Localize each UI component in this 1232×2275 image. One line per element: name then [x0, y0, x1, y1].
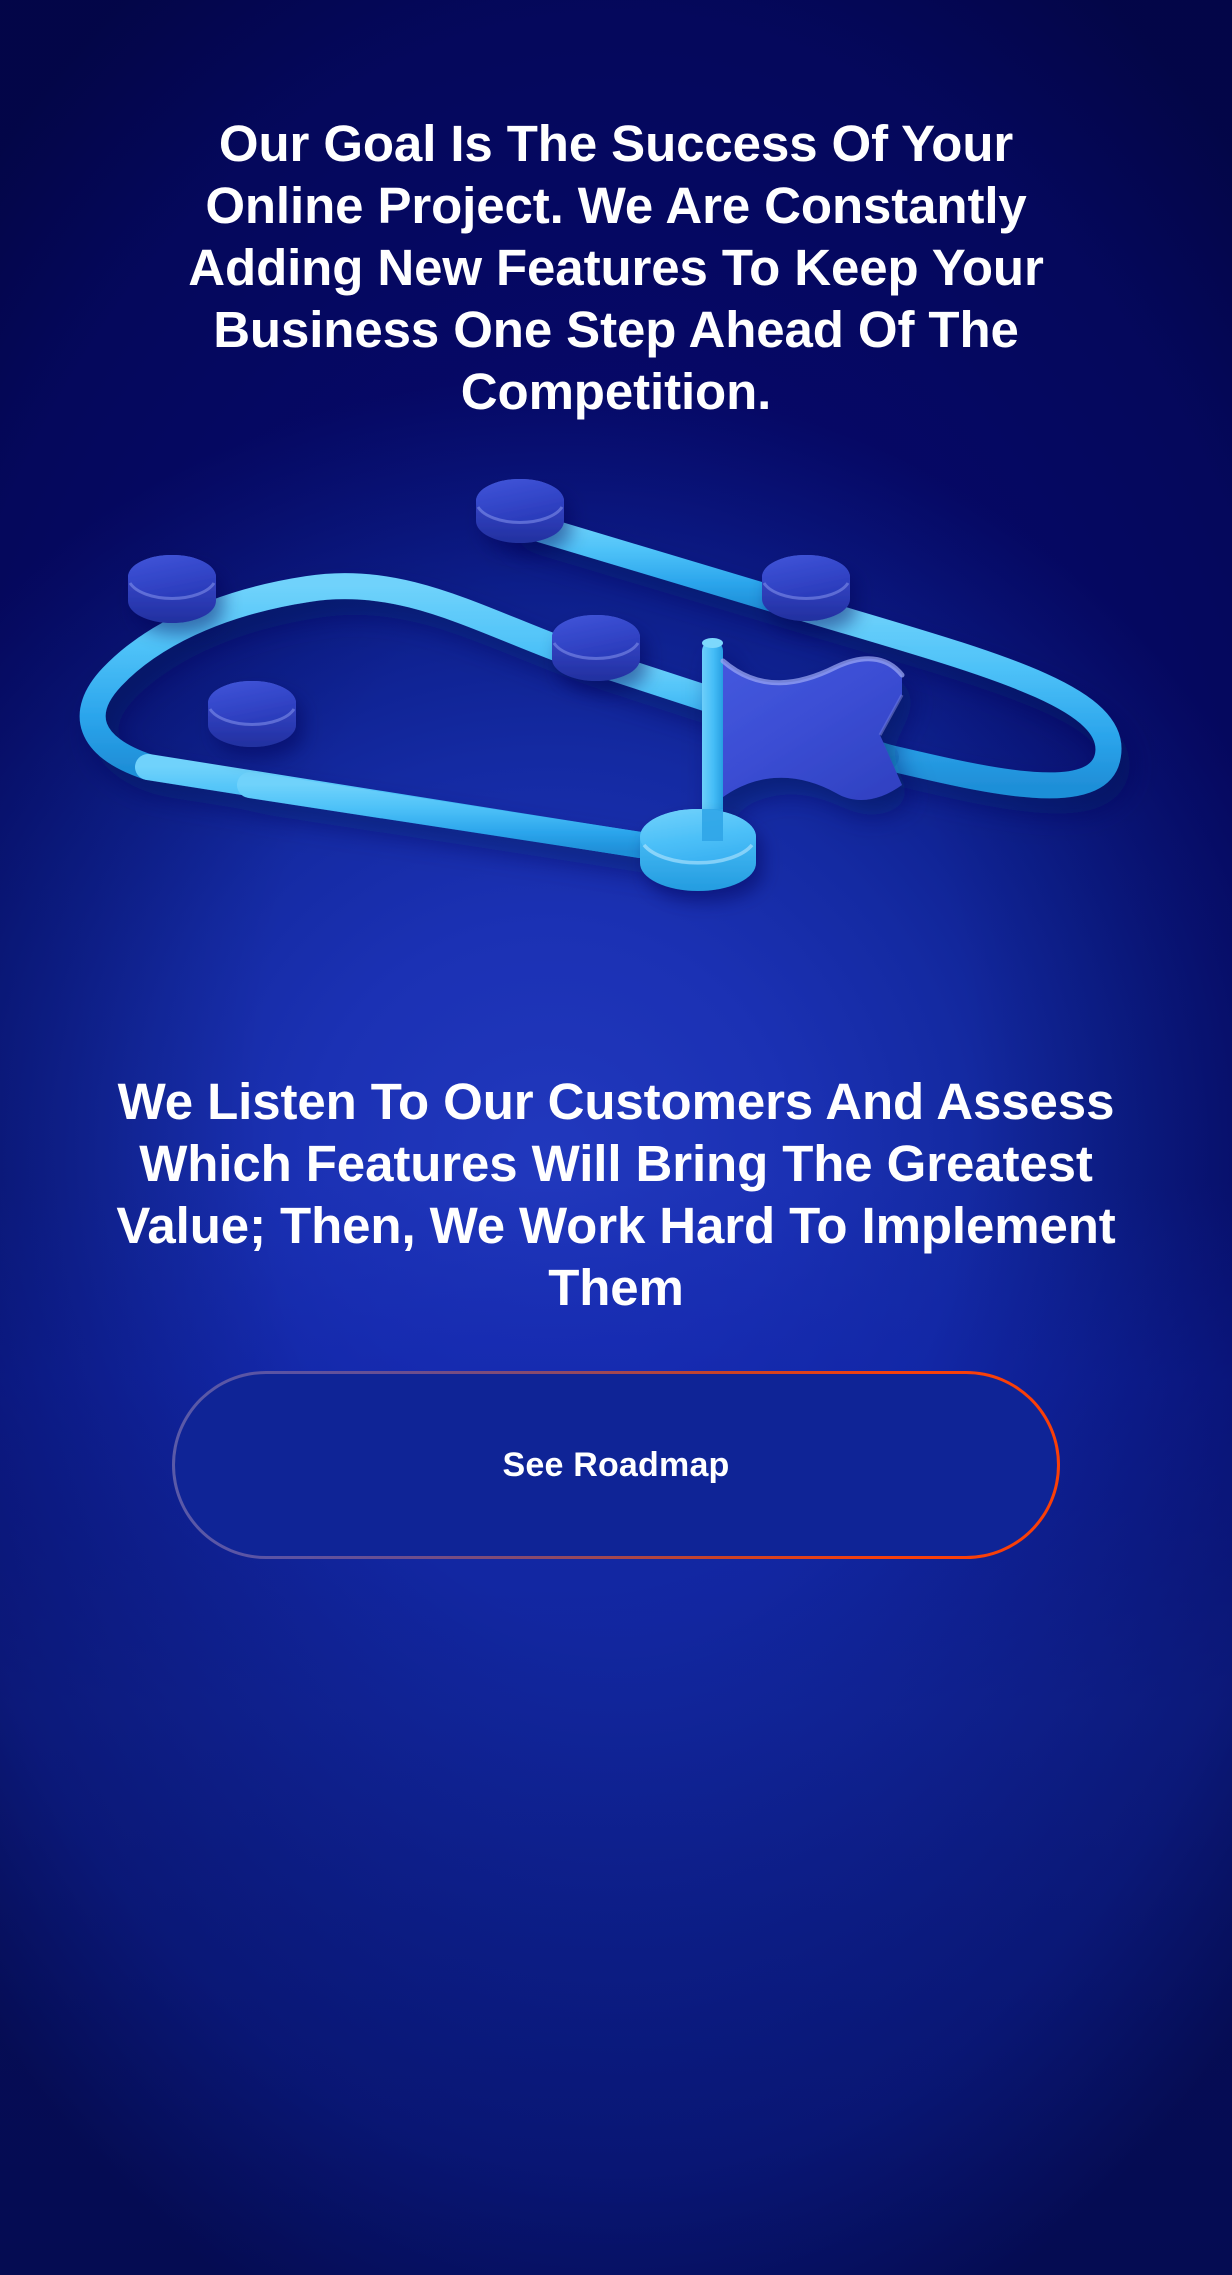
see-roadmap-button-label: See Roadmap	[502, 1448, 729, 1482]
roadmap-illustration	[0, 479, 1232, 1071]
hero-heading-primary: Our Goal Is The Success Of Your Online P…	[136, 113, 1096, 423]
hero-section: Our Goal Is The Success Of Your Online P…	[0, 0, 1232, 2275]
see-roadmap-button[interactable]: See Roadmap	[172, 1371, 1060, 1559]
cta-container: See Roadmap	[0, 1371, 1232, 1631]
hero-heading-secondary: We Listen To Our Customers And Assess Wh…	[111, 1071, 1121, 1319]
